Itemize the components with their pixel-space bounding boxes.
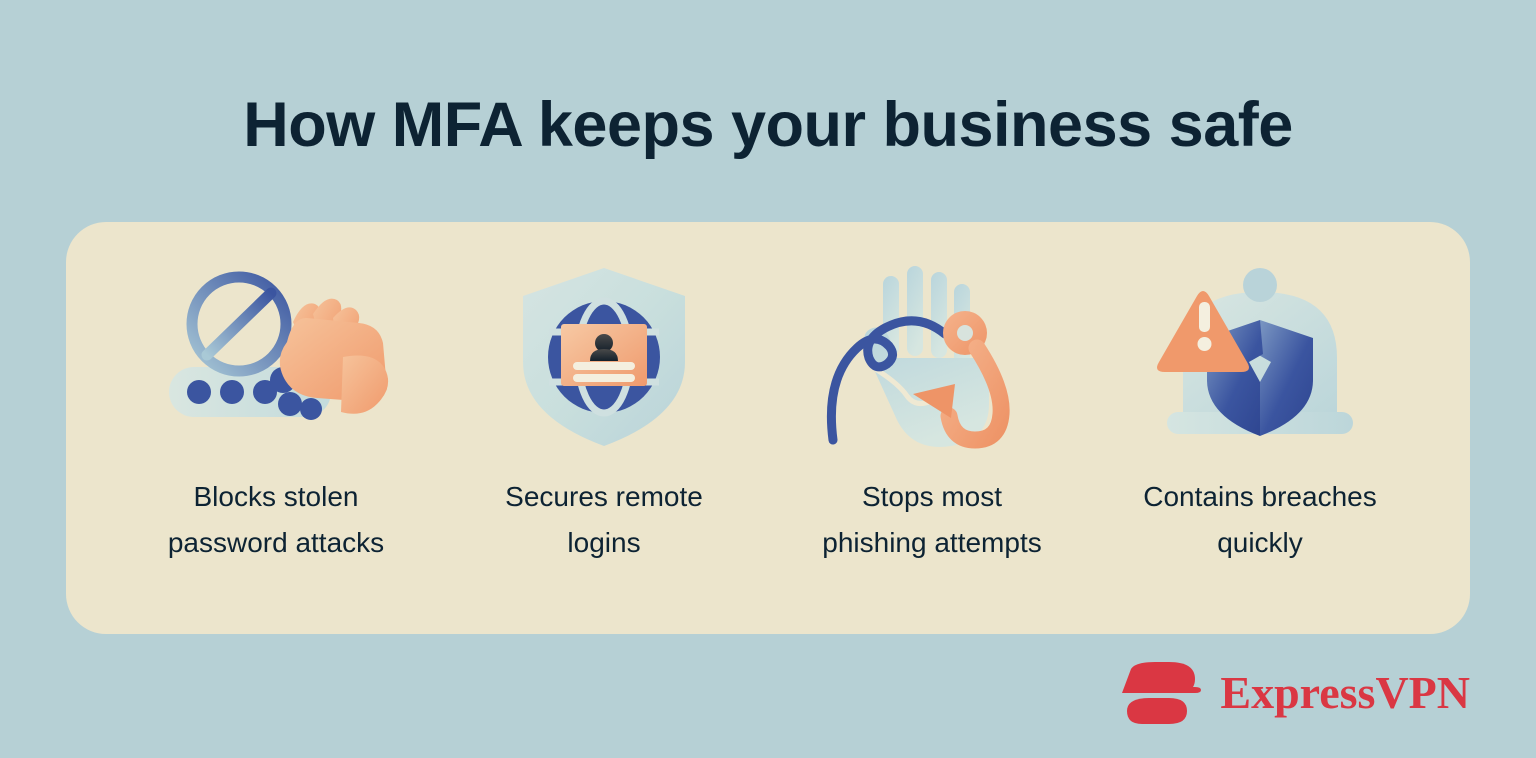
caption-line-1: Blocks stolen — [194, 481, 359, 512]
caption-line-1: Stops most — [862, 481, 1002, 512]
feature-caption: Contains breaches quickly — [1143, 474, 1376, 566]
features-columns: Blocks stolen password attacks — [66, 222, 1470, 634]
shield-globe-id-icon — [489, 262, 719, 452]
features-card: Blocks stolen password attacks — [66, 222, 1470, 634]
caption-line-2: password attacks — [168, 527, 384, 558]
expressvpn-wordmark: ExpressVPN — [1220, 670, 1470, 716]
feature-item-blocks-stolen-password-attacks: Blocks stolen password attacks — [112, 262, 440, 566]
caption-line-2: logins — [567, 527, 640, 558]
caption-line-2: quickly — [1217, 527, 1303, 558]
cloche-cracked-shield-warning-icon — [1145, 262, 1375, 452]
feature-caption: Stops most phishing attempts — [822, 474, 1041, 566]
blocked-password-icon — [161, 262, 391, 452]
feature-item-stops-most-phishing-attempts: Stops most phishing attempts — [768, 262, 1096, 566]
stop-hand-phishing-hook-icon — [817, 262, 1047, 452]
caption-line-1: Secures remote — [505, 481, 703, 512]
feature-caption: Secures remote logins — [505, 474, 703, 566]
feature-item-secures-remote-logins: Secures remote logins — [440, 262, 768, 566]
page-title: How MFA keeps your business safe — [0, 92, 1536, 158]
feature-caption: Blocks stolen password attacks — [168, 474, 384, 566]
expressvpn-e-mark-icon — [1122, 660, 1202, 726]
caption-line-1: Contains breaches — [1143, 481, 1376, 512]
expressvpn-logo: ExpressVPN — [1122, 660, 1470, 726]
caption-line-2: phishing attempts — [822, 527, 1041, 558]
feature-item-contains-breaches-quickly: Contains breaches quickly — [1096, 262, 1424, 566]
infographic-root: How MFA keeps your business safe — [0, 0, 1536, 758]
